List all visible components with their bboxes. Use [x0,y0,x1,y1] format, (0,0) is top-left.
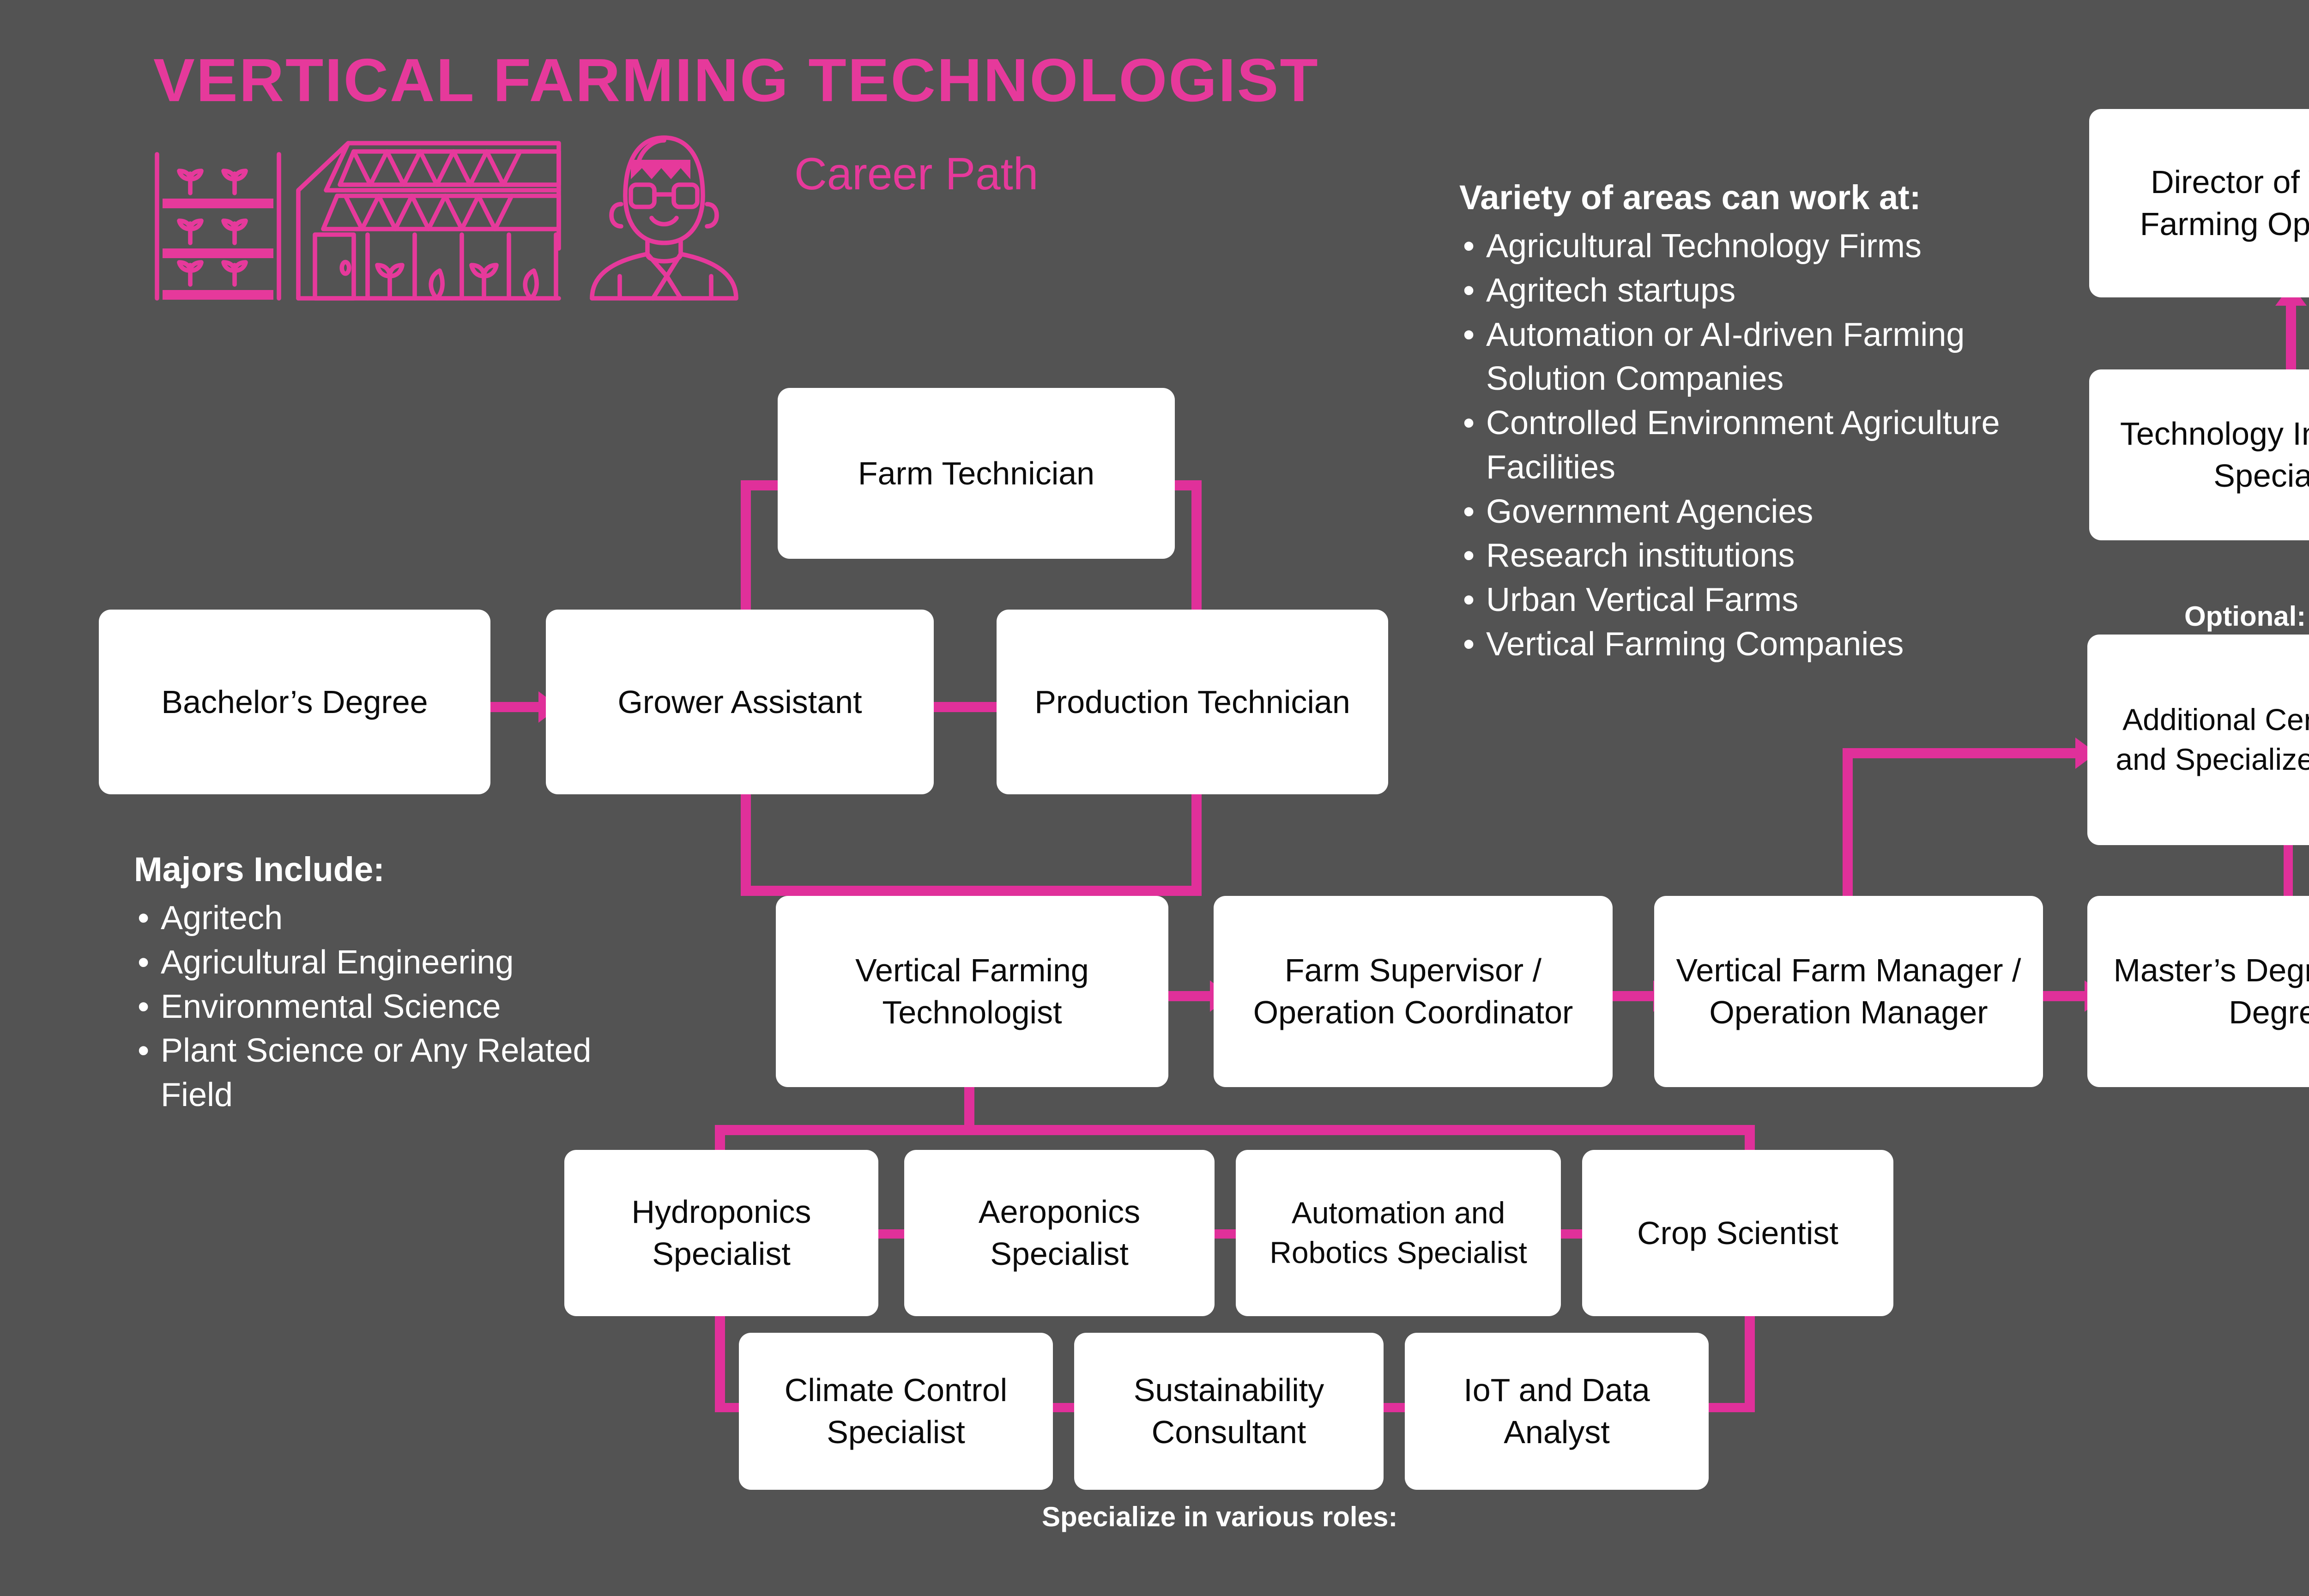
list-item: Agricultural Technology Firms [1459,224,2073,269]
areas-list: Agricultural Technology Firms Agritech s… [1459,224,2073,667]
optional-label: Optional: [2184,600,2306,632]
node-automation-robotics-specialist[interactable]: Automation and Robotics Specialist [1236,1150,1561,1316]
list-item: Vertical Farming Companies [1459,623,2073,667]
list-item: Agritech startups [1459,269,2073,313]
majors-panel: Majors Include: Agritech Agricultural En… [134,850,619,1118]
connector-production-down [1191,785,1202,896]
node-masters-phd[interactable]: Master’s Degree / Ph.D Degree [2087,896,2309,1087]
connector-grower-to-production [934,702,997,712]
connector-farmtech-right-riser [1191,480,1202,619]
node-technology-integration-specialist[interactable]: Technology Integration Specialist [2089,369,2309,540]
list-item: Plant Science or Any Related Field [134,1029,619,1118]
node-hydroponics-specialist[interactable]: Hydroponics Specialist [564,1150,878,1316]
connector-manager-optional-run [1843,748,2078,758]
list-item: Government Agencies [1459,490,2073,534]
node-grower-assistant[interactable]: Grower Assistant [546,610,934,794]
connector-manager-optional-riser [1843,748,1853,896]
node-climate-control-specialist[interactable]: Climate Control Specialist [739,1333,1053,1490]
majors-panel-heading: Majors Include: [134,850,619,889]
connector-crop-to-iot [1704,1403,1755,1412]
majors-list: Agritech Agricultural Engineering Enviro… [134,896,619,1118]
list-item: Agritech [134,896,619,941]
node-iot-data-analyst[interactable]: IoT and Data Analyst [1405,1333,1709,1490]
page-subtitle: Career Path [794,148,1038,200]
connector-manager-to-masters [2043,991,2087,1001]
connector-certs-to-masters [2284,845,2293,900]
node-production-technician[interactable]: Production Technician [997,610,1388,794]
connector-tis-to-director [2286,305,2296,379]
list-item: Environmental Science [134,985,619,1029]
list-item: Agricultural Engineering [134,941,619,985]
node-farm-supervisor[interactable]: Farm Supervisor / Operation Coordinator [1214,896,1613,1087]
node-director-vertical-farming[interactable]: Director of Vertical Farming Operations [2089,109,2309,297]
specialize-label: Specialize in various roles: [1042,1501,1397,1533]
node-vertical-farm-manager[interactable]: Vertical Farm Manager / Operation Manage… [1654,896,2043,1087]
list-item: Controlled Environment Agriculture Facil… [1459,401,2073,490]
areas-panel: Variety of areas can work at: Agricultur… [1459,178,2073,667]
connector-grower-down [741,785,751,896]
node-vertical-farming-technologist[interactable]: Vertical Farming Technologist [776,896,1168,1087]
connector-vft-to-supervisor [1168,991,1213,1001]
node-crop-scientist[interactable]: Crop Scientist [1582,1150,1893,1316]
list-item: Automation or AI-driven Farming Solution… [1459,313,2073,402]
node-farm-technician[interactable]: Farm Technician [778,388,1175,559]
vertical-farm-greenhouse-farmer-illustration [143,115,767,309]
connector-bachelors-to-grower [490,702,541,712]
list-item: Research institutions [1459,534,2073,578]
node-bachelors-degree[interactable]: Bachelor’s Degree [99,610,490,794]
node-sustainability-consultant[interactable]: Sustainability Consultant [1074,1333,1384,1490]
connector-specialization-rail [715,1125,1755,1135]
list-item: Urban Vertical Farms [1459,578,2073,623]
node-additional-certifications[interactable]: Additional Certifications and Specialize… [2087,635,2309,845]
page-title: VERTICAL FARMING TECHNOLOGIST [153,45,1319,115]
areas-panel-heading: Variety of areas can work at: [1459,178,2073,217]
connector-farmtech-left-riser [741,480,751,619]
node-aeroponics-specialist[interactable]: Aeroponics Specialist [904,1150,1215,1316]
connector-supervisor-to-manager [1613,991,1656,1001]
